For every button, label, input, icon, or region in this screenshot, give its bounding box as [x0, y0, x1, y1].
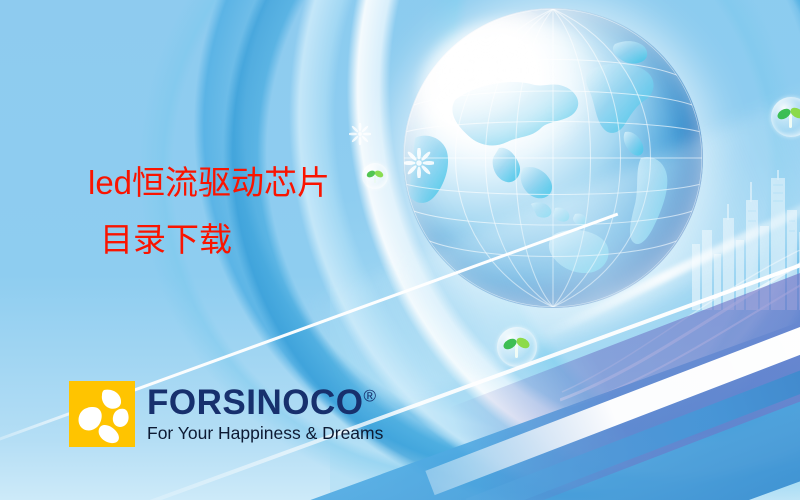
swoosh-ribbon-f — [380, 0, 800, 500]
globe-sphere — [403, 8, 703, 308]
logo-text-block: FORSINOCO® For Your Happiness & Dreams — [147, 385, 383, 443]
white-diagonal-band — [425, 270, 800, 495]
registered-trademark-icon: ® — [363, 387, 376, 406]
headline-line-2: 目录下载 — [100, 223, 418, 256]
world-globe-icon — [403, 8, 703, 308]
headline-text: led恒流驱动芯片 目录下载 — [88, 166, 418, 256]
company-logo[interactable]: FORSINOCO® For Your Happiness & Dreams — [69, 381, 383, 447]
globe-rim-glow — [403, 8, 703, 308]
city-skyline-icon — [688, 170, 800, 310]
logo-tagline: For Your Happiness & Dreams — [147, 425, 383, 443]
logo-wordmark: FORSINOCO® — [147, 385, 383, 420]
logo-wordmark-text: FORSINOCO — [147, 383, 363, 422]
four-petal-pinwheel-icon — [69, 381, 135, 447]
bubble-sprout-icon — [497, 327, 537, 367]
bubble-sprout-icon — [771, 97, 800, 137]
light-streaks-decoration — [560, 250, 800, 410]
globe-gloss-highlight — [419, 18, 609, 168]
green-sprout-icon — [497, 327, 537, 367]
promo-banner: led恒流驱动芯片 目录下载 FORSINOCO® For Your Happi… — [0, 0, 800, 500]
headline-line-1: led恒流驱动芯片 — [88, 166, 418, 199]
sparkle-flower-icon — [349, 123, 371, 145]
streak-band-decoration — [543, 186, 800, 340]
green-sprout-icon — [771, 97, 800, 137]
globe-continents-and-grid — [403, 8, 703, 308]
